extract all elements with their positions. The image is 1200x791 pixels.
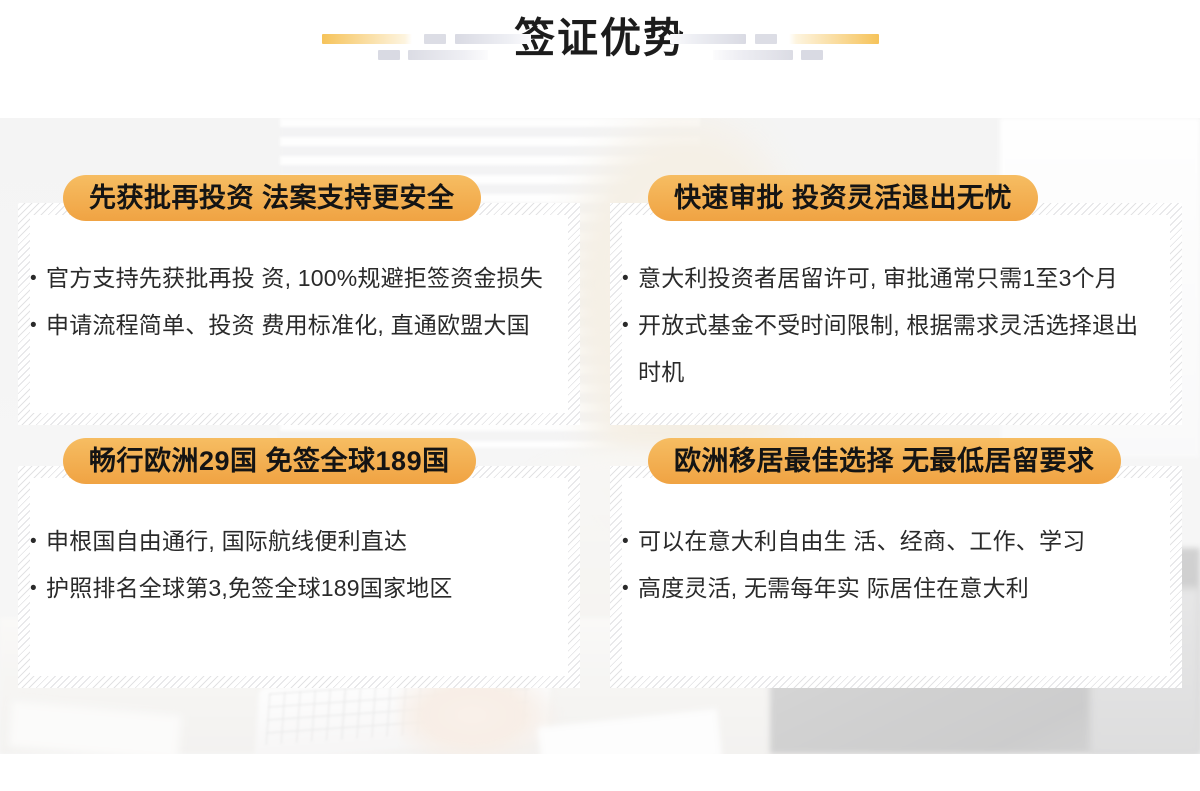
card-badge-2[interactable]: 快速审批 投资灵活退出无忧 <box>648 175 1038 221</box>
advantage-card-1: 先获批再投资 法案支持更安全 官方支持先获批再投 资, 100%规避拒签资金损失… <box>18 203 580 425</box>
advantage-card-2: 快速审批 投资灵活退出无忧 意大利投资者居留许可, 审批通常只需1至3个月 开放… <box>610 203 1182 425</box>
list-item: 官方支持先获批再投 资, 100%规避拒签资金损失 <box>28 255 566 302</box>
card-bullets-1: 官方支持先获批再投 资, 100%规避拒签资金损失 申请流程简单、投资 费用标准… <box>28 255 566 349</box>
list-item: 申根国自由通行, 国际航线便利直达 <box>28 518 566 565</box>
list-item: 申请流程简单、投资 费用标准化, 直通欧盟大国 <box>28 302 566 349</box>
list-item: 可以在意大利自由生 活、经商、工作、学习 <box>620 518 1168 565</box>
list-item: 意大利投资者居留许可, 审批通常只需1至3个月 <box>620 255 1168 302</box>
list-item: 开放式基金不受时间限制, 根据需求灵活选择退出 时机 <box>620 302 1168 396</box>
advantage-card-grid: 先获批再投资 法案支持更安全 官方支持先获批再投 资, 100%规避拒签资金损失… <box>0 0 1200 791</box>
list-item: 护照排名全球第3,免签全球189国家地区 <box>28 565 566 612</box>
advantage-card-3: 畅行欧洲29国 免签全球189国 申根国自由通行, 国际航线便利直达 护照排名全… <box>18 466 580 688</box>
card-badge-4[interactable]: 欧洲移居最佳选择 无最低居留要求 <box>648 438 1121 484</box>
card-badge-3[interactable]: 畅行欧洲29国 免签全球189国 <box>63 438 476 484</box>
card-bullets-2: 意大利投资者居留许可, 审批通常只需1至3个月 开放式基金不受时间限制, 根据需… <box>620 255 1168 396</box>
card-bullets-3: 申根国自由通行, 国际航线便利直达 护照排名全球第3,免签全球189国家地区 <box>28 518 566 612</box>
list-item: 高度灵活, 无需每年实 际居住在意大利 <box>620 565 1168 612</box>
card-bullets-4: 可以在意大利自由生 活、经商、工作、学习 高度灵活, 无需每年实 际居住在意大利 <box>620 518 1168 612</box>
advantage-card-4: 欧洲移居最佳选择 无最低居留要求 可以在意大利自由生 活、经商、工作、学习 高度… <box>610 466 1182 688</box>
visa-advantages-page: 签证优势 先获批再投资 法案支持更安全 官方支持先获批再投 资, 100%规避拒… <box>0 0 1200 791</box>
card-badge-1[interactable]: 先获批再投资 法案支持更安全 <box>63 175 481 221</box>
